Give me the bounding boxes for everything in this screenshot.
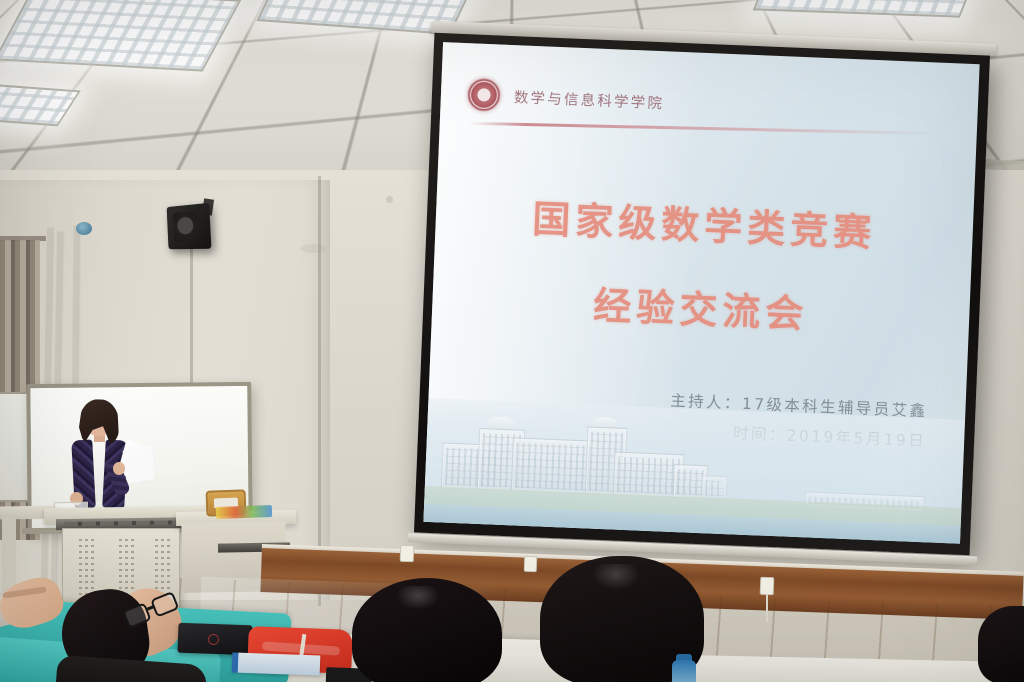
colored-paper-sheet [216,505,272,519]
projection-screen[interactable]: 数学与信息科学学院 国家级数学类竞赛 经验交流会 主持人：17级本科生辅导员艾鑫… [414,33,990,555]
wall-mark [386,196,393,203]
presenter-papers [122,447,155,484]
header-divider-rule [470,122,938,135]
presenter-hand [113,462,125,475]
slide-title-line-2: 经验交流会 [432,268,971,345]
slide-header: 数学与信息科学学院 [466,77,665,119]
closed-laptop [177,623,252,656]
slide-title-line-1: 国家级数学类竞赛 [435,184,974,261]
presenter [66,404,134,516]
ceiling-light-fixture [0,0,242,72]
list-item [978,606,1024,682]
list-item [62,584,180,682]
ceiling-fixture-knob [76,222,92,235]
student-desk-row [430,650,1024,682]
classroom-photo: 数学与信息科学学院 国家级数学类竞赛 经验交流会 主持人：17级本科生辅导员艾鑫… [0,0,1024,682]
university-crest-icon [466,77,501,112]
slide-title: 国家级数学类竞赛 经验交流会 [432,184,974,345]
wall-mark [300,244,326,253]
water-bottle [672,660,696,682]
campus-photo-band [423,398,965,544]
hair-highlight [592,564,640,590]
wall-speaker-icon [167,203,212,249]
department-name: 数学与信息科学学院 [514,86,665,113]
foreground-audience [0,560,1024,682]
wall-corner-seam [318,176,321,606]
list-item [352,578,502,682]
presentation-slide: 数学与信息科学学院 国家级数学类竞赛 经验交流会 主持人：17级本科生辅导员艾鑫… [423,42,979,544]
hair-highlight [396,586,440,610]
blue-notebook [232,652,321,675]
